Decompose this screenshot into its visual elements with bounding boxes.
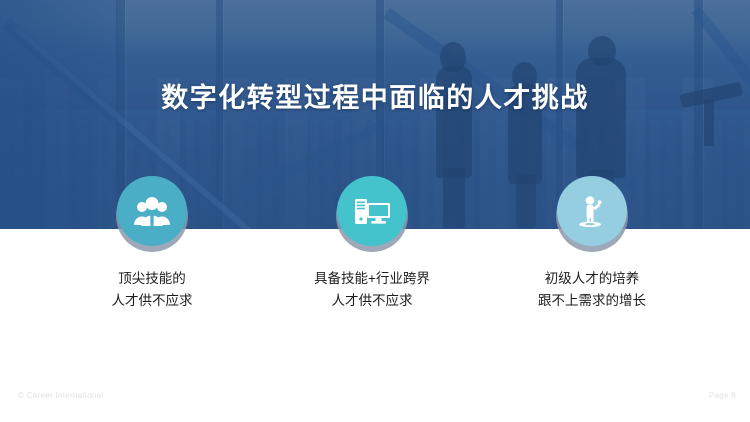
person-raised-hand-icon	[575, 194, 609, 228]
desktop-computer-icon	[353, 195, 391, 227]
caption-line: 跟不上需求的增长	[482, 290, 702, 312]
badge-circle-3[interactable]	[557, 176, 627, 246]
badge-circle-1[interactable]	[117, 176, 187, 246]
feature-column-3: 初级人才的培养 跟不上需求的增长	[482, 176, 702, 312]
caption-line: 具备技能+行业跨界	[262, 268, 482, 290]
caption-line: 初级人才的培养	[482, 268, 702, 290]
badge-wrapper	[556, 176, 628, 248]
feature-caption-2: 具备技能+行业跨界 人才供不应求	[262, 268, 482, 312]
feature-columns: 顶尖技能的 人才供不应求	[0, 0, 750, 422]
caption-line: 人才供不应求	[42, 290, 262, 312]
feature-caption-1: 顶尖技能的 人才供不应求	[42, 268, 262, 312]
badge-circle-2[interactable]	[337, 176, 407, 246]
people-group-icon	[133, 195, 171, 227]
presentation-slide: 数字化转型过程中面临的人才挑战	[0, 0, 750, 422]
caption-line: 人才供不应求	[262, 290, 482, 312]
feature-column-1: 顶尖技能的 人才供不应求	[42, 176, 262, 312]
badge-wrapper	[116, 176, 188, 248]
feature-column-2: 具备技能+行业跨界 人才供不应求	[262, 176, 482, 312]
feature-caption-3: 初级人才的培养 跟不上需求的增长	[482, 268, 702, 312]
badge-wrapper	[336, 176, 408, 248]
caption-line: 顶尖技能的	[42, 268, 262, 290]
